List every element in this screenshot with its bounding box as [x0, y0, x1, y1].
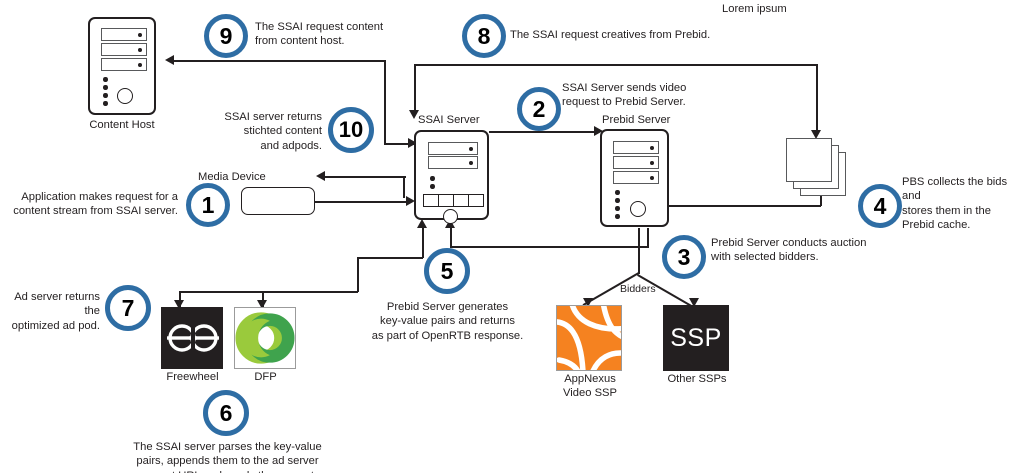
- step-text-7: Ad server returns the optimized ad pod.: [0, 290, 100, 333]
- edge-9-vertical: [384, 60, 386, 144]
- dfp-logo-icon: [235, 308, 295, 368]
- node-label-prebid-server: Prebid Server: [602, 113, 722, 127]
- step-text-1: Application makes request for a content …: [10, 190, 178, 219]
- node-label-media-device: Media Device: [198, 170, 318, 184]
- arrowhead-9-content-host: [165, 55, 174, 65]
- step-number-2: 2: [533, 98, 546, 121]
- step-badge-10[interactable]: 10: [328, 107, 374, 153]
- step-badge-7[interactable]: 7: [105, 285, 151, 331]
- step-text-2: SSAI Server sends video request to Prebi…: [562, 81, 762, 110]
- step-badge-4[interactable]: 4: [858, 184, 902, 228]
- ssp-logo-icon: SSP: [670, 324, 722, 353]
- edge-5-prebid-down: [647, 228, 649, 248]
- edge-4-horizontal: [669, 205, 821, 207]
- node-media-device[interactable]: [241, 187, 315, 215]
- edge-10-vertical: [403, 176, 405, 198]
- arrowhead-7-ssai: [417, 219, 427, 228]
- node-label-freewheel: Freewheel: [150, 370, 235, 384]
- step-badge-1[interactable]: 1: [186, 183, 230, 227]
- step-number-7: 7: [122, 297, 135, 320]
- step-badge-6[interactable]: 6: [203, 390, 249, 436]
- node-content-host[interactable]: [88, 17, 156, 115]
- edge-2-horizontal: [489, 131, 599, 133]
- edge-7-vertical: [357, 257, 359, 292]
- node-prebid-cache[interactable]: [786, 138, 858, 198]
- edge-7-horizontal-bottom: [179, 291, 358, 293]
- edge-8-left-vertical: [414, 64, 416, 113]
- diagram-canvas: Lorem ipsum Bidders: [0, 0, 1015, 473]
- node-label-dfp: DFP: [228, 370, 303, 384]
- step-text-6: The SSAI server parses the key-value pai…: [130, 440, 325, 473]
- node-label-content-host: Content Host: [68, 118, 176, 132]
- step-number-3: 3: [678, 246, 691, 269]
- step-badge-3[interactable]: 3: [662, 235, 706, 279]
- edge-10-horizontal: [322, 176, 405, 178]
- node-label-other-ssps: Other SSPs: [651, 372, 743, 386]
- step-number-1: 1: [202, 194, 215, 217]
- step-text-4: PBS collects the bids and stores them in…: [902, 175, 1015, 232]
- edge-7-horizontal-top: [357, 257, 423, 259]
- step-number-8: 8: [478, 25, 491, 48]
- step-badge-5[interactable]: 5: [424, 248, 470, 294]
- step-text-9: The SSAI request content from content ho…: [255, 20, 455, 49]
- step-text-3: Prebid Server conducts auction with sele…: [711, 236, 921, 265]
- step-badge-8[interactable]: 8: [462, 14, 506, 58]
- node-prebid-server[interactable]: [600, 129, 669, 227]
- node-dfp[interactable]: [234, 307, 296, 369]
- edge-label-bidders: Bidders: [620, 283, 656, 295]
- step-badge-9[interactable]: 9: [204, 14, 248, 58]
- edge-9-horizontal: [170, 60, 385, 62]
- step-text-8: The SSAI request creatives from Prebid.: [510, 28, 810, 42]
- edge-5-up: [450, 226, 452, 247]
- edge-1-horizontal: [315, 201, 411, 203]
- edge-8-right-vertical: [816, 64, 818, 132]
- step-badge-2[interactable]: 2: [517, 87, 561, 131]
- top-note: Lorem ipsum: [722, 2, 787, 16]
- node-appnexus[interactable]: [556, 305, 622, 371]
- node-label-appnexus: AppNexus Video SSP: [545, 372, 635, 400]
- edge-7-up: [422, 226, 424, 258]
- step-text-10: SSAI server returns stichted content and…: [188, 110, 322, 153]
- freewheel-logo-icon: [161, 307, 223, 369]
- node-other-ssps[interactable]: SSP: [663, 305, 729, 371]
- edge-5-horizontal: [450, 246, 648, 248]
- appnexus-logo-icon: [557, 306, 622, 371]
- node-ssai-server[interactable]: [414, 130, 489, 220]
- node-freewheel[interactable]: [161, 307, 223, 369]
- step-number-4: 4: [874, 195, 887, 218]
- step-number-6: 6: [220, 402, 233, 425]
- step-number-9: 9: [220, 25, 233, 48]
- edge-8-horizontal: [414, 64, 817, 66]
- step-number-5: 5: [441, 260, 454, 283]
- edge-3-trunk: [638, 228, 640, 274]
- step-text-5: Prebid Server generates key-value pairs …: [370, 300, 525, 343]
- step-number-10: 10: [339, 119, 363, 141]
